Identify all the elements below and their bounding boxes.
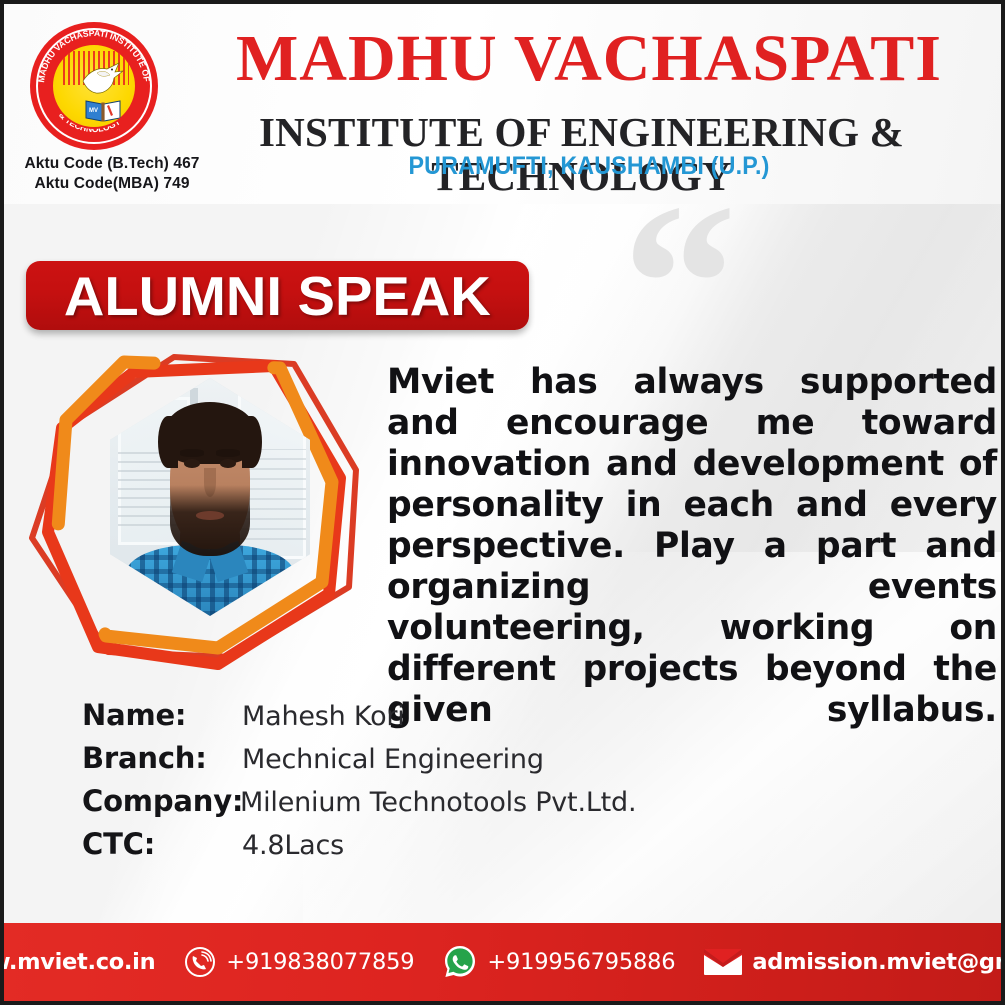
footer-phone[interactable]: +919838077859: [169, 945, 428, 979]
footer-website[interactable]: www.mviet.co.in: [0, 945, 169, 979]
institute-name: MADHU VACHASPATI: [174, 24, 1004, 94]
alumni-speak-poster: MADHU VACHASPATI INSTITUTE OF ENGINEERIN…: [0, 0, 1005, 1005]
website-text: www.mviet.co.in: [0, 949, 155, 975]
dove-icon: [79, 61, 127, 97]
whatsapp-icon: [442, 944, 478, 980]
detail-row-branch: Branch: Mechnical Engineering: [82, 741, 842, 784]
detail-value-ctc: 4.8Lacs: [242, 830, 344, 861]
email-text: admission.mviet@gmail.com: [752, 949, 1005, 975]
email-icon: [703, 947, 743, 977]
logo-disc: MV: [51, 43, 137, 129]
institute-location: PURAMUFTI, KAUSHAMBI (U.P.): [203, 152, 975, 181]
institute-logo: MADHU VACHASPATI INSTITUTE OF ENGINEERIN…: [30, 22, 170, 156]
detail-row-name: Name: Mahesh Kori: [82, 698, 842, 741]
detail-row-ctc: CTC: 4.8Lacs: [82, 827, 842, 870]
whatsapp-text: +919956795886: [487, 949, 675, 975]
phone-text: +919838077859: [226, 949, 414, 975]
phone-icon: [183, 945, 217, 979]
detail-value-branch: Mechnical Engineering: [242, 744, 544, 775]
alumni-details: Name: Mahesh Kori Branch: Mechnical Engi…: [82, 698, 842, 870]
alumni-speak-badge: ALUMNI SPEAK: [26, 261, 529, 330]
svg-text:MV: MV: [89, 108, 98, 114]
footer-email[interactable]: admission.mviet@gmail.com: [689, 947, 1005, 977]
alumni-speak-label: ALUMNI SPEAK: [64, 264, 491, 328]
alumni-photo: [110, 378, 310, 616]
detail-label-ctc: CTC:: [82, 827, 242, 861]
alumni-photo-frame: [22, 342, 382, 694]
detail-row-company: Company: Milenium Technotools Pvt.Ltd.: [82, 784, 842, 827]
contact-footer: www.mviet.co.in +919838077859 +919956795…: [4, 923, 1005, 1001]
detail-label-company: Company:: [82, 784, 242, 818]
footer-whatsapp[interactable]: +919956795886: [428, 944, 689, 980]
detail-value-company: Milenium Technotools Pvt.Ltd.: [240, 787, 636, 818]
poster-header: MADHU VACHASPATI INSTITUTE OF ENGINEERIN…: [4, 4, 1005, 204]
detail-label-branch: Branch:: [82, 741, 242, 775]
book-icon: MV: [84, 97, 122, 123]
detail-value-name: Mahesh Kori: [242, 701, 405, 732]
detail-label-name: Name:: [82, 698, 242, 732]
quote-mark-icon: “: [622, 204, 772, 324]
